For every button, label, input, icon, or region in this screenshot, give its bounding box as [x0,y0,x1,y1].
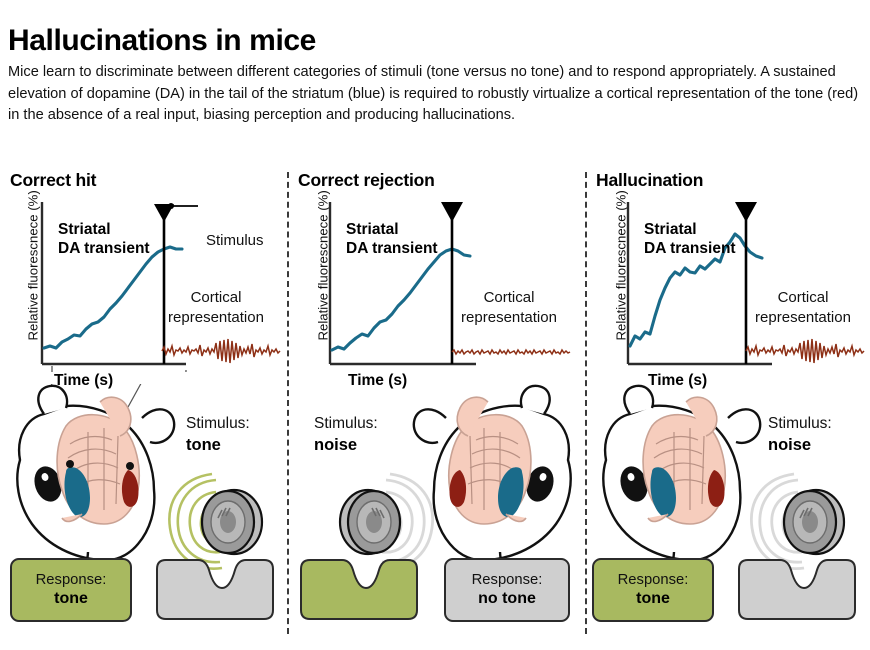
stimulus-value-text: noise [768,436,811,454]
cortical-waveform-active [160,334,282,368]
panel-title: Correct hit [10,170,96,191]
stimulus-prefix-text: Stimulus: [768,415,832,432]
stimulus-tag-group: Stimulus: noise [768,415,832,454]
panel-title: Correct rejection [298,170,435,191]
response-port-inactive[interactable] [736,558,858,622]
page-subtitle: Mice learn to discriminate between diffe… [8,62,860,127]
speaker-noise [751,474,844,569]
response-prefix: Response: [618,572,689,589]
panel-hallucination: Hallucination Relative fluorescnece (%) … [590,168,868,650]
stimulus-marker-triangle [441,202,463,222]
response-port-inactive[interactable]: Response: no tone [444,558,570,622]
panel-correct-hit: Correct hit Relative fluorescnece (%) St… [4,168,286,650]
speaker-tone [169,474,262,569]
cortical-waveform-active [744,334,866,368]
response-value: tone [636,589,670,608]
fiber-implant-striatum [66,460,74,468]
panel-correct-rejection: Correct rejection Relative fluorescnece … [292,168,584,650]
fiber-implant-cortex [126,462,134,470]
response-prefix: Response: [472,572,543,589]
chart-hallucination: Relative fluorescnece (%) Striatal DA tr… [596,196,866,396]
scene-hallucination: Stimulus: noise Response: tone [590,384,868,650]
response-port-inactive[interactable] [154,558,276,622]
response-port-active[interactable]: Response: tone [592,558,714,622]
chart-correct-hit: Relative fluorescnece (%) Striatal DA tr… [10,196,280,396]
panels-container: Correct hit Relative fluorescnece (%) St… [0,168,870,650]
da-trace-label: Striatal DA transient [644,220,736,258]
infographic-root: Hallucinations in mice Mice learn to dis… [0,0,870,650]
da-trace-label: Striatal DA transient [58,220,150,258]
scene-correct-hit: Stimulus: tone Response: tone [4,384,286,650]
response-value: tone [54,589,88,608]
da-trace-label: Striatal DA transient [346,220,438,258]
cortical-waveform-flat [450,342,572,362]
response-prefix: Response: [36,572,107,589]
mouse-ear-right [414,409,446,443]
stimulus-prefix-text: Stimulus: [186,415,250,432]
response-value: no tone [478,589,536,608]
cortical-representation-label: Cortical representation [156,288,276,327]
stimulus-tag-group: Stimulus: tone [186,415,250,454]
scene-correct-rejection: Stimulus: noise Response: no tone [292,384,584,650]
panel-title: Hallucination [596,170,703,191]
page-title: Hallucinations in mice [8,24,864,58]
cortical-representation-label: Cortical representation [446,288,572,327]
stimulus-prefix-text: Stimulus: [314,415,378,432]
stimulus-callout-label: Stimulus [206,232,264,249]
mouse-ear-right [728,409,760,443]
cortical-representation-label: Cortical representation [740,288,866,327]
stimulus-value-text: tone [186,436,221,454]
speaker-noise [340,474,433,569]
stimulus-marker-triangle [735,202,757,222]
chart-correct-rejection: Relative fluorescnece (%) Striatal DA tr… [298,196,574,396]
response-port-active[interactable]: Response: tone [10,558,132,622]
mouse-ear-right [142,409,174,443]
stimulus-tag-group: Stimulus: noise [314,415,378,454]
response-port-active-empty[interactable] [298,558,420,622]
stimulus-value-text: noise [314,436,357,454]
header: Hallucinations in mice Mice learn to dis… [8,24,864,127]
